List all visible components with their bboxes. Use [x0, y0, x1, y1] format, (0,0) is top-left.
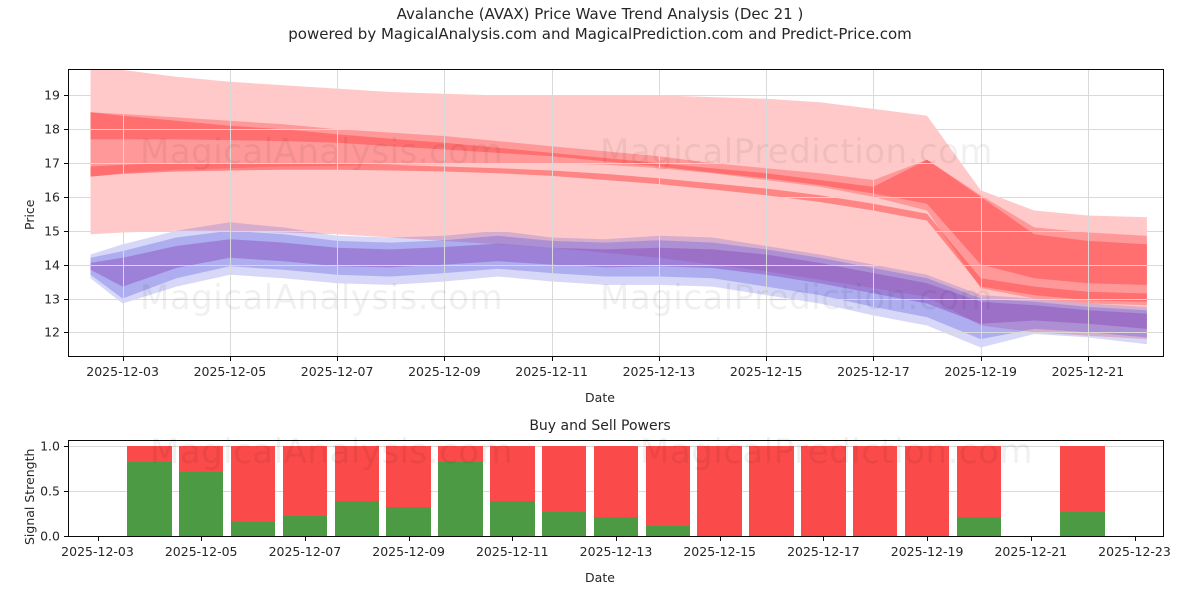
- buysell-x-tick-mark: [512, 537, 513, 541]
- price-y-tick-mark: [64, 197, 68, 198]
- price-y-tick-mark: [64, 299, 68, 300]
- bar-sell-segment: [127, 446, 172, 461]
- bar-sell-segment: [646, 446, 691, 526]
- price-x-tick-mark: [230, 357, 231, 361]
- buysell-x-tick-label: 2025-12-15: [683, 544, 756, 559]
- price-gridline-v: [659, 70, 660, 356]
- bar-2025-12-10: [438, 446, 483, 536]
- bar-2025-12-20: [957, 446, 1002, 536]
- bar-buy-segment: [283, 516, 328, 536]
- bar-2025-12-16: [749, 446, 794, 536]
- price-x-tick-mark: [873, 357, 874, 361]
- bar-sell-segment: [957, 446, 1002, 517]
- price-x-tick-label: 2025-12-05: [194, 364, 267, 379]
- price-y-tick-label: 18: [26, 122, 60, 137]
- bar-sell-segment: [231, 446, 276, 521]
- buysell-y-axis-title: Signal Strength: [22, 449, 37, 545]
- bar-2025-12-07: [283, 446, 328, 536]
- price-y-tick-label: 19: [26, 88, 60, 103]
- bar-sell-segment: [749, 446, 794, 536]
- buy-sell-chart-title: Buy and Sell Powers: [0, 418, 1200, 434]
- bar-2025-12-18: [853, 446, 898, 536]
- bar-sell-segment: [905, 446, 950, 536]
- bar-buy-segment: [957, 517, 1002, 536]
- bar-sell-segment: [386, 446, 431, 507]
- price-y-tick-mark: [64, 163, 68, 164]
- buysell-x-tick-label: 2025-12-05: [165, 544, 238, 559]
- bar-buy-segment: [386, 507, 431, 536]
- bar-2025-12-17: [801, 446, 846, 536]
- bar-buy-segment: [438, 462, 483, 536]
- buysell-y-tick-mark: [64, 536, 68, 537]
- bar-sell-segment: [697, 446, 742, 536]
- buysell-x-tick-mark: [616, 537, 617, 541]
- buysell-x-tick-mark: [927, 537, 928, 541]
- price-x-tick-label: 2025-12-17: [837, 364, 910, 379]
- bar-sell-segment: [594, 446, 639, 517]
- price-gridline-v: [981, 70, 982, 356]
- bar-buy-segment: [231, 522, 276, 536]
- bar-2025-12-14: [646, 446, 691, 536]
- price-y-tick-mark: [64, 265, 68, 266]
- buysell-x-tick-mark: [201, 537, 202, 541]
- bar-buy-segment: [1060, 512, 1105, 536]
- bar-sell-segment: [335, 446, 380, 501]
- price-x-tick-label: 2025-12-03: [86, 364, 159, 379]
- price-x-tick-mark: [552, 357, 553, 361]
- buysell-x-tick-label: 2025-12-07: [269, 544, 342, 559]
- price-gridline-v: [552, 70, 553, 356]
- bar-2025-12-22: [1060, 446, 1105, 536]
- bar-2025-12-09: [386, 446, 431, 536]
- bar-sell-segment: [283, 446, 328, 516]
- buysell-x-axis-title: Date: [585, 570, 615, 585]
- bar-2025-12-13: [594, 446, 639, 536]
- price-x-tick-label: 2025-12-09: [408, 364, 481, 379]
- buysell-x-tick-label: 2025-12-13: [580, 544, 653, 559]
- price-x-tick-mark: [123, 357, 124, 361]
- bar-buy-segment: [335, 501, 380, 536]
- price-x-tick-label: 2025-12-11: [515, 364, 588, 379]
- buysell-y-tick-mark: [64, 446, 68, 447]
- price-gridline-h: [69, 265, 1163, 266]
- buysell-x-tick-mark: [98, 537, 99, 541]
- bar-2025-12-08: [335, 446, 380, 536]
- price-x-tick-label: 2025-12-13: [623, 364, 696, 379]
- price-gridline-h: [69, 129, 1163, 130]
- price-x-tick-label: 2025-12-21: [1052, 364, 1125, 379]
- bar-2025-12-19: [905, 446, 950, 536]
- buysell-x-tick-label: 2025-12-03: [61, 544, 134, 559]
- price-gridline-h: [69, 197, 1163, 198]
- buysell-x-tick-label: 2025-12-17: [787, 544, 860, 559]
- price-y-tick-label: 13: [26, 291, 60, 306]
- page-subtitle: powered by MagicalAnalysis.com and Magic…: [0, 24, 1200, 44]
- price-x-tick-label: 2025-12-07: [301, 364, 374, 379]
- bar-sell-segment: [490, 446, 535, 501]
- price-x-tick-mark: [981, 357, 982, 361]
- bar-2025-12-05: [179, 446, 224, 536]
- page-title: Avalanche (AVAX) Price Wave Trend Analys…: [0, 4, 1200, 24]
- price-y-tick-label: 17: [26, 156, 60, 171]
- price-gridline-v: [766, 70, 767, 356]
- bar-2025-12-11: [490, 446, 535, 536]
- bar-buy-segment: [127, 462, 172, 536]
- bar-sell-segment: [1060, 446, 1105, 511]
- price-band-layers: [69, 70, 1163, 356]
- price-y-tick-label: 14: [26, 257, 60, 272]
- buysell-x-tick-label: 2025-12-23: [1098, 544, 1171, 559]
- price-wave-plot: [68, 69, 1164, 357]
- price-y-tick-mark: [64, 231, 68, 232]
- price-y-tick-mark: [64, 95, 68, 96]
- price-gridline-v: [1088, 70, 1089, 356]
- price-x-tick-mark: [659, 357, 660, 361]
- bar-buy-segment: [646, 526, 691, 536]
- bar-2025-12-12: [542, 446, 587, 536]
- bar-sell-segment: [438, 446, 483, 461]
- bar-buy-segment: [179, 472, 224, 537]
- price-x-tick-mark: [1088, 357, 1089, 361]
- price-y-tick-label: 12: [26, 325, 60, 340]
- price-y-axis-title: Price: [22, 200, 37, 231]
- price-gridline-h: [69, 332, 1163, 333]
- bar-buy-segment: [594, 517, 639, 536]
- buysell-x-tick-label: 2025-12-19: [891, 544, 964, 559]
- buysell-x-tick-mark: [1135, 537, 1136, 541]
- buysell-x-tick-mark: [409, 537, 410, 541]
- buysell-x-tick-label: 2025-12-09: [372, 544, 445, 559]
- buysell-x-tick-label: 2025-12-21: [994, 544, 1067, 559]
- price-x-axis-title: Date: [585, 390, 615, 405]
- title-block: Avalanche (AVAX) Price Wave Trend Analys…: [0, 4, 1200, 44]
- bar-sell-segment: [542, 446, 587, 511]
- price-gridline-v: [444, 70, 445, 356]
- price-gridline-v: [230, 70, 231, 356]
- chart-page: Avalanche (AVAX) Price Wave Trend Analys…: [0, 0, 1200, 600]
- buy-sell-plot: [68, 440, 1164, 537]
- price-x-tick-mark: [444, 357, 445, 361]
- bar-sell-segment: [801, 446, 846, 536]
- price-x-tick-mark: [337, 357, 338, 361]
- bar-buy-segment: [490, 501, 535, 536]
- price-x-tick-mark: [766, 357, 767, 361]
- bar-2025-12-04: [127, 446, 172, 536]
- bar-sell-segment: [853, 446, 898, 536]
- price-gridline-h: [69, 231, 1163, 232]
- price-gridline-v: [123, 70, 124, 356]
- bar-2025-12-06: [231, 446, 276, 536]
- price-y-tick-mark: [64, 332, 68, 333]
- price-gridline-h: [69, 95, 1163, 96]
- buysell-x-tick-mark: [1031, 537, 1032, 541]
- buysell-x-tick-mark: [823, 537, 824, 541]
- price-gridline-v: [873, 70, 874, 356]
- price-x-tick-label: 2025-12-15: [730, 364, 803, 379]
- price-gridline-h: [69, 163, 1163, 164]
- price-gridline-h: [69, 299, 1163, 300]
- bar-buy-segment: [542, 512, 587, 536]
- price-y-tick-mark: [64, 129, 68, 130]
- buysell-x-tick-mark: [305, 537, 306, 541]
- buysell-x-tick-mark: [720, 537, 721, 541]
- bar-sell-segment: [179, 446, 224, 471]
- buysell-x-tick-label: 2025-12-11: [476, 544, 549, 559]
- buysell-y-tick-mark: [64, 491, 68, 492]
- bar-2025-12-15: [697, 446, 742, 536]
- price-gridline-v: [337, 70, 338, 356]
- price-x-tick-label: 2025-12-19: [944, 364, 1017, 379]
